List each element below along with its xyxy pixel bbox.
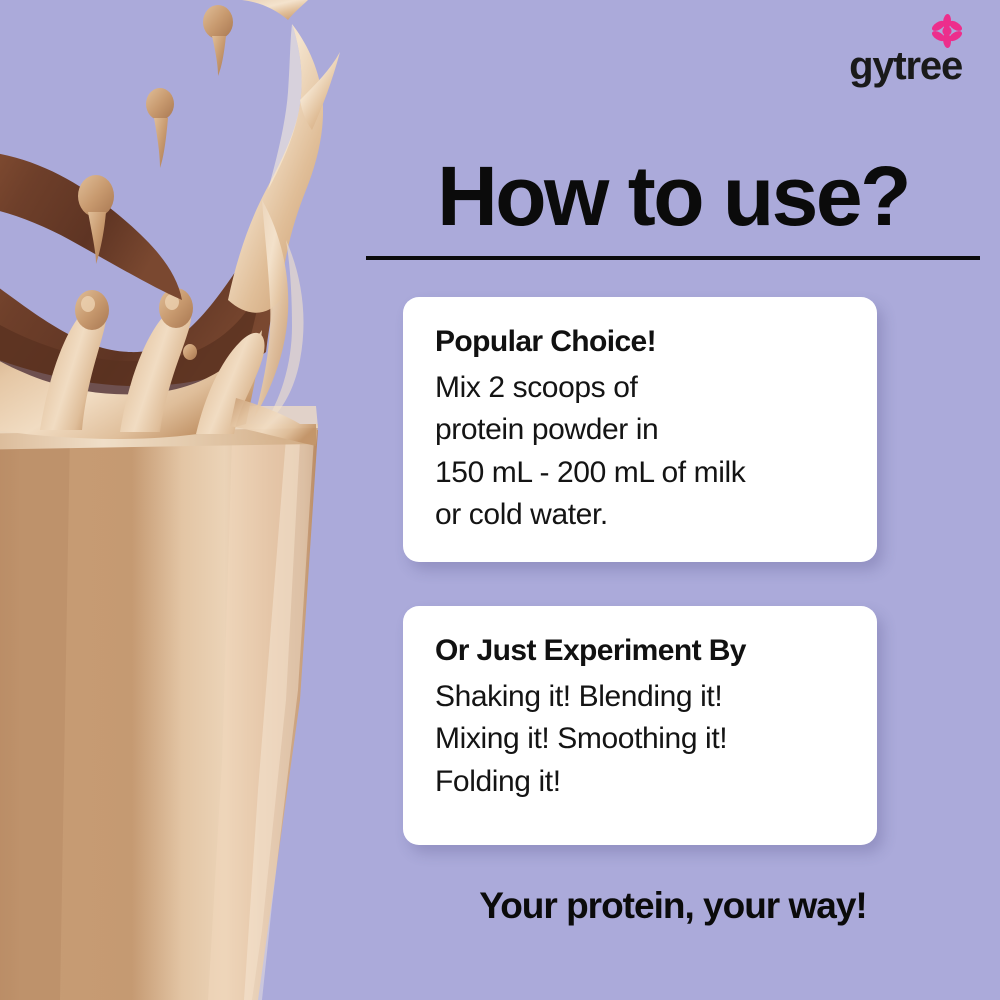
page-title: How to use? (366, 152, 980, 240)
brand-name: gytree (849, 46, 962, 86)
footer-tagline: Your protein, your way! (366, 885, 980, 927)
card-body: Shaking it! Blending it! Mixing it! Smoo… (435, 676, 845, 804)
instruction-card-experiment: Or Just Experiment By Shaking it! Blendi… (403, 606, 877, 845)
instruction-card-popular-choice: Popular Choice! Mix 2 scoops of protein … (403, 297, 877, 562)
poster-canvas: gytree How to use? Popular Choice! Mix 2… (0, 0, 1000, 1000)
headline-divider (366, 256, 980, 260)
headline-block: How to use? (366, 152, 980, 260)
milkshake-splash-artwork (0, 0, 360, 1000)
card-body: Mix 2 scoops of protein powder in 150 mL… (435, 367, 845, 537)
card-title: Or Just Experiment By (435, 632, 845, 670)
brand-logo[interactable]: gytree (849, 28, 962, 86)
flower-asterisk-icon (930, 14, 964, 48)
card-title: Popular Choice! (435, 323, 845, 361)
